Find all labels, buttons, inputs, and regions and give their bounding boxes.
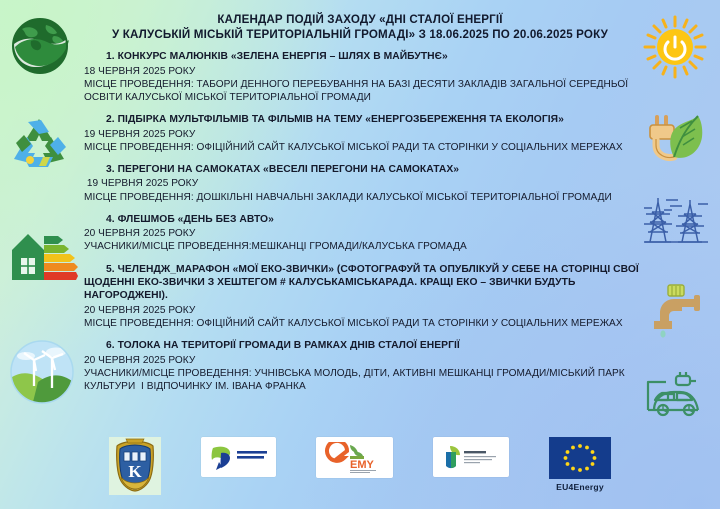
coat-of-arms-letter: K (128, 462, 142, 481)
event-date: 20 ЧЕРВНЯ 2025 РОКУ (84, 304, 652, 317)
event-date: 20 ЧЕРВНЯ 2025 РОКУ (84, 227, 652, 240)
event-item: 1. КОНКУРС МАЛЮНКІВ «ЗЕЛЕНА ЕНЕРГІЯ – ШЛ… (84, 50, 652, 104)
emy-wordmark: EMY (350, 459, 375, 471)
kalush-coat-of-arms-logo: K (109, 437, 161, 495)
event-item: 4. ФЛЕШМОБ «ДЕНЬ БЕЗ АВТО» 20 ЧЕРВНЯ 202… (84, 213, 652, 254)
event-item: 5. ЧЕЛЕНДЖ_МАРАФОН «МОЇ ЕКО-ЗВИЧКИ» (СФО… (84, 263, 652, 331)
event-date: 19 ЧЕРВНЯ 2025 РОКУ (84, 128, 652, 141)
event-heading: 4. ФЛЕШМОБ «ДЕНЬ БЕЗ АВТО» (84, 213, 652, 226)
emy-logo: EMY (316, 437, 393, 478)
event-place: МІСЦЕ ПРОВЕДЕННЯ: ОФІЦІЙНИЙ САЙТ КАЛУСЬК… (84, 141, 652, 154)
event-place: МІСЦЕ ПРОВЕДЕННЯ: ТАБОРИ ДЕННОГО ПЕРЕБУВ… (84, 78, 652, 104)
title-line-2: У КАЛУСЬКІЙ МІСЬКІЙ ТЕРИТОРІАЛЬНІЙ ГРОМА… (70, 28, 650, 43)
event-place: УЧАСНИКИ/МІСЦЕ ПРОВЕДЕННЯ:МЕШКАНЦІ ГРОМА… (84, 240, 652, 253)
event-heading: 1. КОНКУРС МАЛЮНКІВ «ЗЕЛЕНА ЕНЕРГІЯ – ШЛ… (84, 50, 652, 63)
event-place: УЧАСНИКИ/МІСЦЕ ПРОВЕДЕННЯ: УЧНІВСЬКА МОЛ… (84, 367, 652, 393)
event-date: 18 ЧЕРВНЯ 2025 РОКУ (84, 65, 652, 78)
event-heading: 5. ЧЕЛЕНДЖ_МАРАФОН «МОЇ ЕКО-ЗВИЧКИ» (СФО… (84, 263, 652, 303)
event-heading: 6. ТОЛОКА НА ТЕРИТОРІЇ ГРОМАДИ В РАМКАХ … (84, 339, 652, 352)
event-item: 3. ПЕРЕГОНИ НА САМОКАТАХ «ВЕСЕЛІ ПЕРЕГОН… (84, 163, 652, 204)
event-item: 6. ТОЛОКА НА ТЕРИТОРІЇ ГРОМАДИ В РАМКАХ … (84, 339, 652, 393)
event-item: 2. ПІДБІРКА МУЛЬТФІЛЬМІВ ТА ФІЛЬМІВ НА Т… (84, 113, 652, 154)
event-place: МІСЦЕ ПРОВЕДЕННЯ: ДОШКІЛЬНІ НАВЧАЛЬНІ ЗА… (84, 191, 652, 204)
events-list: 1. КОНКУРС МАЛЮНКІВ «ЗЕЛЕНА ЕНЕРГІЯ – ШЛ… (0, 42, 720, 393)
event-date: 19 ЧЕРВНЯ 2025 РОКУ (84, 177, 652, 190)
eu4energy-caption: EU4Energy (556, 482, 604, 492)
event-place: МІСЦЕ ПРОВЕДЕННЯ: ОФІЦІЙНИЙ САЙТ КАЛУСЬК… (84, 317, 652, 330)
footer-logo-strip: K (0, 437, 720, 501)
eco-partner-logo (433, 437, 509, 477)
event-heading: 2. ПІДБІРКА МУЛЬТФІЛЬМІВ ТА ФІЛЬМІВ НА Т… (84, 113, 652, 126)
event-date: 20 ЧЕРВНЯ 2025 РОКУ (84, 354, 652, 367)
sustainable-energy-week-logo (201, 437, 276, 477)
page-title: КАЛЕНДАР ПОДІЙ ЗАХОДУ «ДНІ СТАЛОЇ ЕНЕРГІ… (0, 0, 720, 42)
eu4energy-logo: EU4Energy (549, 437, 611, 492)
title-line-1: КАЛЕНДАР ПОДІЙ ЗАХОДУ «ДНІ СТАЛОЇ ЕНЕРГІ… (70, 13, 650, 28)
poster-canvas: КАЛЕНДАР ПОДІЙ ЗАХОДУ «ДНІ СТАЛОЇ ЕНЕРГІ… (0, 0, 720, 509)
event-heading: 3. ПЕРЕГОНИ НА САМОКАТАХ «ВЕСЕЛІ ПЕРЕГОН… (84, 163, 652, 176)
